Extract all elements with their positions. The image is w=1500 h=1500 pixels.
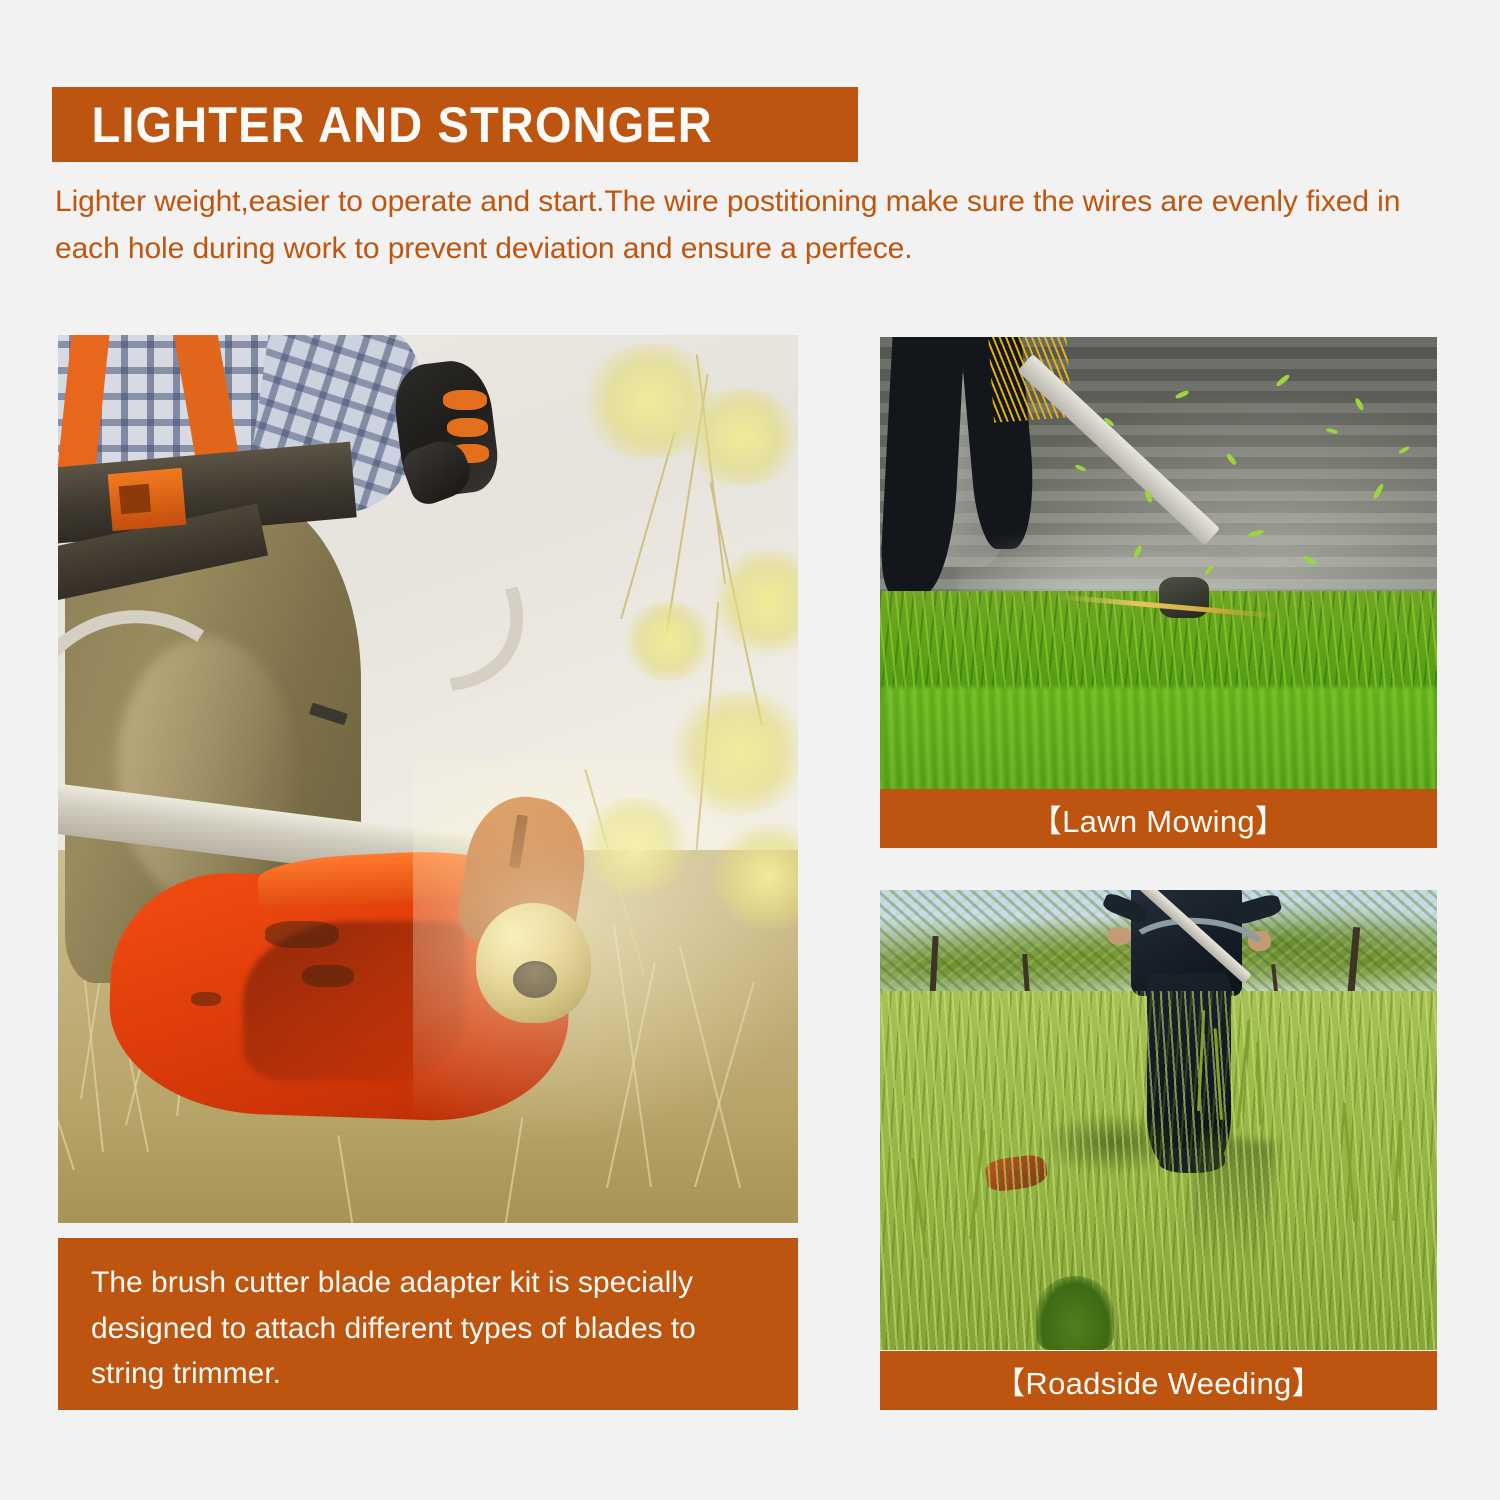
lawn-caption-text: 【Lawn Mowing】 xyxy=(1031,796,1286,841)
roadside-weeding-photo xyxy=(880,890,1437,1350)
lawn-mowing-photo xyxy=(880,337,1437,798)
lawn-mowing-image xyxy=(880,337,1437,798)
broadleaf-weed xyxy=(1036,1276,1114,1350)
product-main-image xyxy=(58,335,798,1223)
harness-buckle xyxy=(107,468,186,531)
page-description: Lighter weight,easier to operate and sta… xyxy=(55,178,1455,273)
main-image-caption: The brush cutter blade adapter kit is sp… xyxy=(58,1238,798,1410)
main-caption-text: The brush cutter blade adapter kit is sp… xyxy=(58,1238,798,1397)
brush-cutter-operator-photo xyxy=(58,335,798,1223)
roadside-weeding-image xyxy=(880,890,1437,1350)
page-title-banner: LIGHTER AND STRONGER xyxy=(52,87,858,162)
roadside-caption-text: 【Roadside Weeding】 xyxy=(994,1358,1323,1403)
page-title: LIGHTER AND STRONGER xyxy=(52,96,713,154)
trimmer-head xyxy=(1159,577,1209,618)
roadside-weeding-caption: 【Roadside Weeding】 xyxy=(880,1351,1437,1410)
lawn-mowing-caption: 【Lawn Mowing】 xyxy=(880,789,1437,848)
